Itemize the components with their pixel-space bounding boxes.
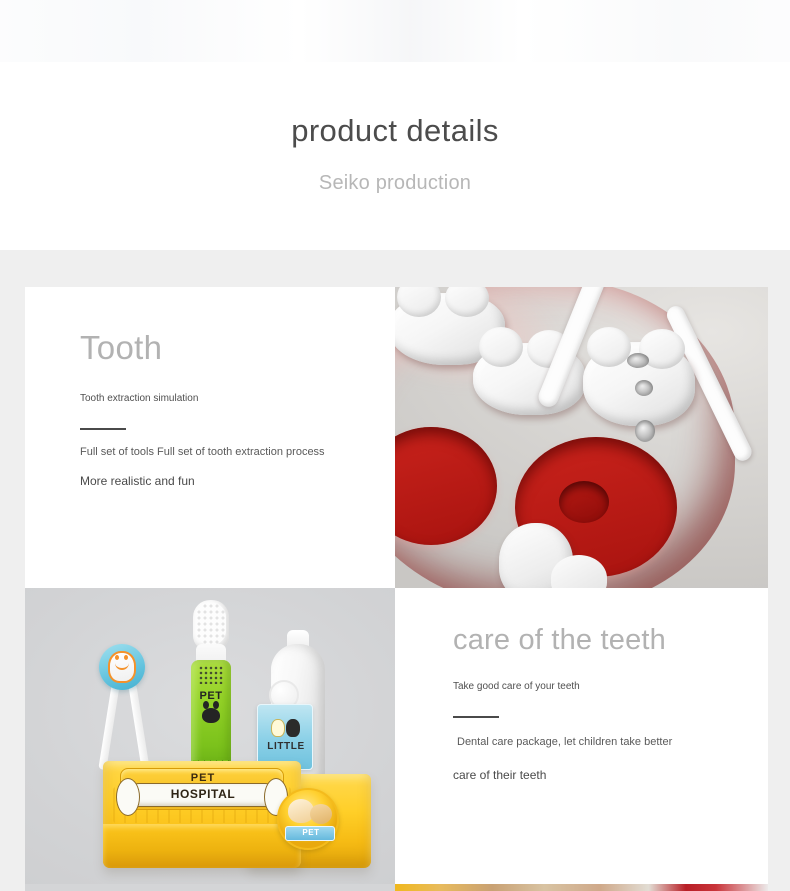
toothbrush-grip-dots [199, 666, 223, 684]
page-title: product details [0, 113, 790, 149]
molar-cavity-2 [635, 380, 653, 396]
mirror-head-icon [99, 644, 145, 690]
care-underline-rule [453, 716, 499, 718]
page-subtitle: Seiko production [0, 172, 790, 195]
care-caption: Take good care of your teeth [453, 681, 580, 692]
pet-badge-sticker: PET [277, 788, 339, 850]
product-details-page: product details Seiko production Tooth T… [0, 0, 790, 891]
care-description-line-2: care of their teeth [453, 768, 546, 782]
decayed-tooth-icon [286, 719, 300, 737]
content-stage: Tooth Tooth extraction simulation Full s… [0, 250, 790, 891]
header-ghost-strip [0, 0, 790, 62]
care-description-line-1: Dental care package, let children take b… [457, 736, 672, 748]
tooth-underline-rule [80, 428, 126, 430]
care-heading: care of the teeth [453, 624, 666, 657]
stand-name-plate: PET HOSPITAL [120, 768, 284, 810]
care-text-panel: care of the teeth Take good care of your… [395, 588, 768, 891]
tooth-description-line-1: Full set of tools Full set of tooth extr… [80, 446, 325, 458]
stand-label-bottom: HOSPITAL [128, 787, 278, 801]
bone-shape-icon: HOSPITAL [127, 783, 277, 807]
healthy-tooth-icon [271, 719, 285, 737]
tooth-description-line-2: More realistic and fun [80, 474, 195, 488]
tooth-face-eye-left [115, 655, 119, 660]
toothbrush-bristles [196, 603, 226, 645]
stand-base-step [103, 824, 301, 868]
tooth-face-eye-right [124, 655, 128, 660]
header-band: product details Seiko production [0, 0, 790, 250]
dog-face-icon-2 [310, 804, 332, 824]
dental-tray-photo [395, 287, 768, 588]
panel-grid: Tooth Tooth extraction simulation Full s… [25, 287, 768, 891]
tooth-heading: Tooth [80, 329, 162, 367]
molar-cavity-3 [635, 420, 655, 442]
next-image-sliver-right [395, 884, 768, 891]
badge-label-text: PET [286, 828, 336, 837]
molar-cavity-1 [627, 353, 649, 368]
toothpaste-label-text: LITTLE [258, 741, 314, 752]
next-image-sliver-left [25, 884, 395, 891]
paw-print-icon [202, 708, 220, 723]
pet-hospital-set-photo: PET LITTLE [25, 588, 395, 891]
badge-ribbon: PET [285, 826, 335, 841]
tooth-caption: Tooth extraction simulation [80, 393, 198, 404]
toothbrush-brand-label: PET [191, 690, 231, 702]
tooth-text-panel: Tooth Tooth extraction simulation Full s… [25, 287, 395, 588]
